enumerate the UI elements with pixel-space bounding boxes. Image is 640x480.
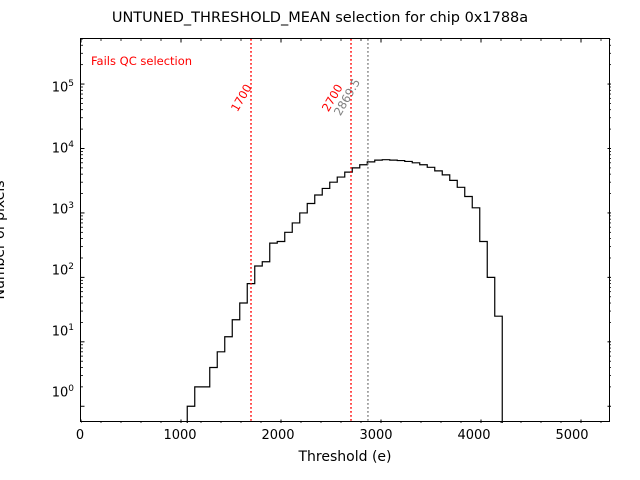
x-tick-3000: 3000 [341,428,411,443]
matplotlib-figure: UNTUNED_THRESHOLD_MEAN selection for chi… [0,0,640,480]
plot-axes [80,38,610,422]
x-tick-5000: 5000 [537,428,607,443]
histogram-step-line [187,160,502,423]
axis-ticks [81,39,611,423]
x-tick-4000: 4000 [439,428,509,443]
x-axis-label: Threshold (e) [80,449,610,465]
histogram-plot [81,39,611,423]
x-tick-2000: 2000 [243,428,313,443]
x-tick-1000: 1000 [145,428,215,443]
x-tick-0: 0 [45,428,115,443]
